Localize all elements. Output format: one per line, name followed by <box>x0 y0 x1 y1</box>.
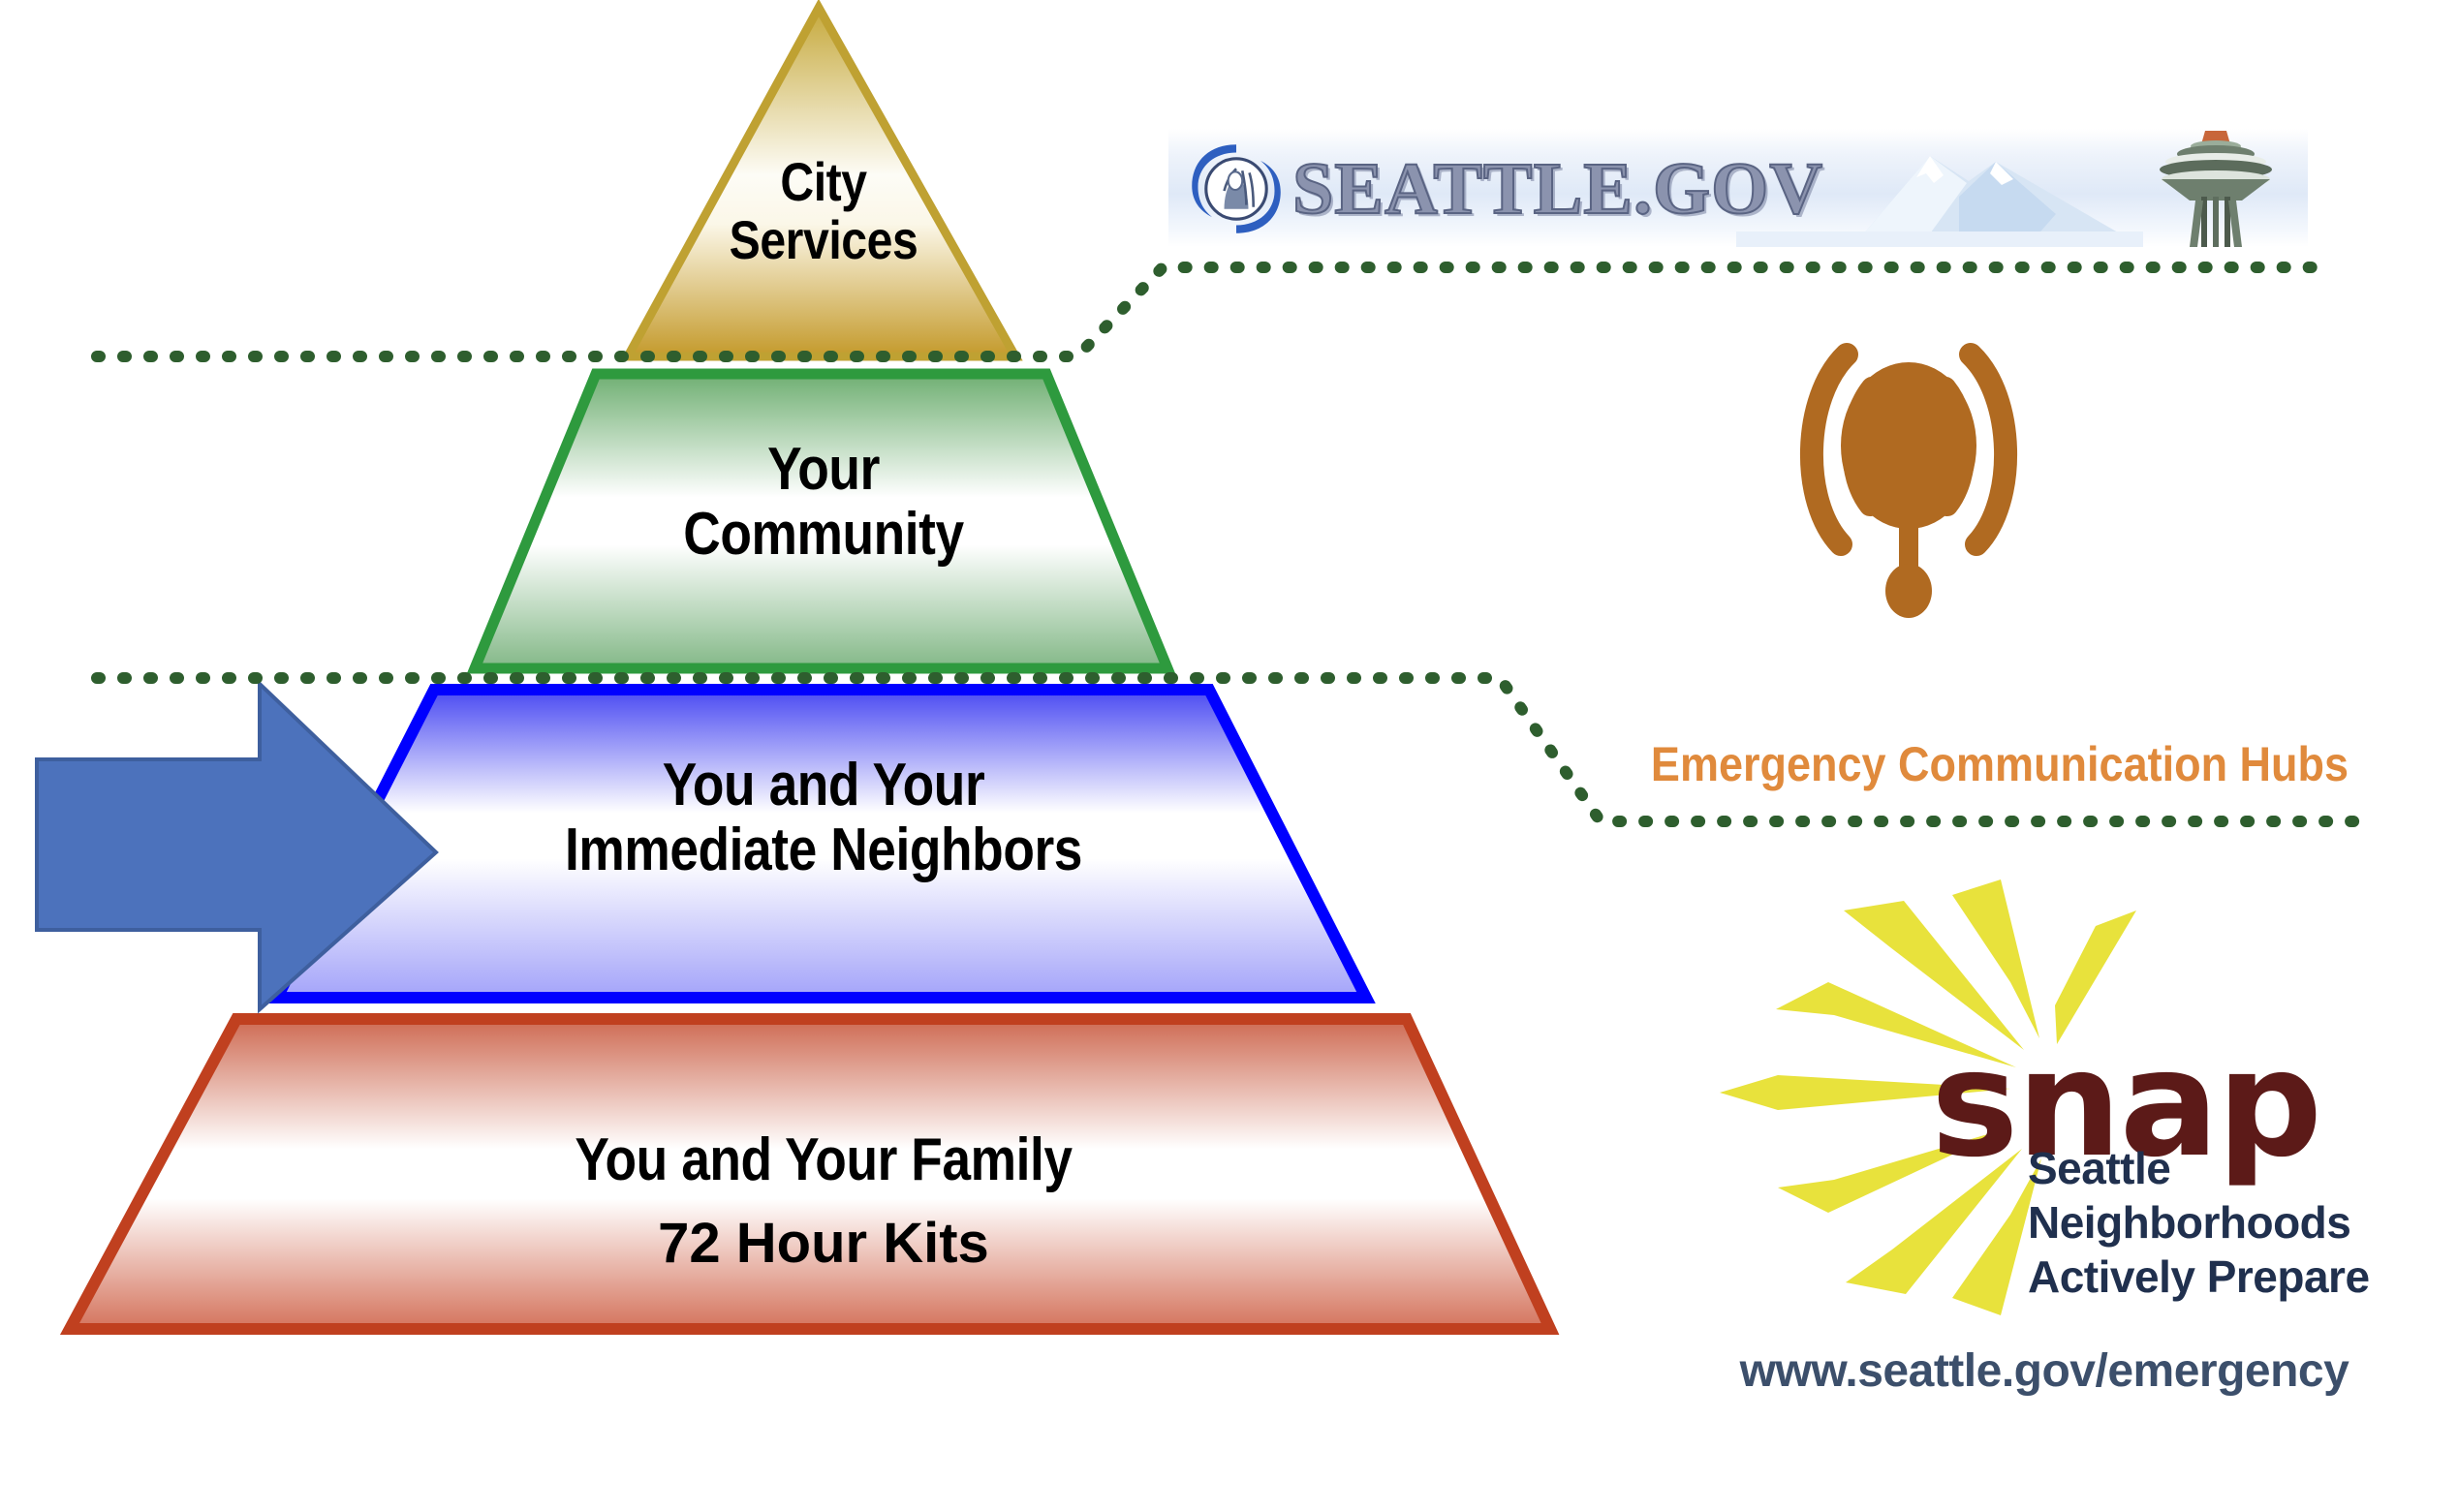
seattle-emergency-url[interactable]: www.seattle.gov/emergency <box>1647 1344 2442 1398</box>
preparedness-pyramid-diagram: City Services Your Community You and You… <box>0 0 2458 1512</box>
space-needle-illustration <box>2133 131 2298 247</box>
emergency-communication-hubs-logo[interactable] <box>1657 291 2161 639</box>
snap-logo[interactable]: snap Seattle Neighborhoods Actively Prep… <box>1720 868 2458 1323</box>
emergency-hubs-caption: Emergency Communication Hubs <box>1607 736 2392 792</box>
mount-rainier-illustration <box>1736 139 2143 247</box>
seattle-gov-banner[interactable]: SEATTLE.GOV <box>1168 129 2308 247</box>
radio-broadcast-icon <box>1657 291 2161 639</box>
snap-tagline: Seattle Neighborhoods Actively Prepare <box>2028 1141 2370 1304</box>
seattle-city-seal-icon <box>1186 139 1287 239</box>
